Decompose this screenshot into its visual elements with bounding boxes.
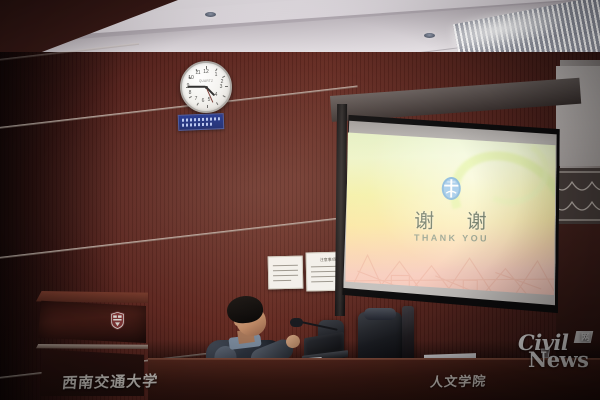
downlight-icon [205,12,216,17]
downlight-icon [424,33,435,38]
photograph-lecture-hall: 12 1 2 3 4 5 6 7 8 9 10 11 QUARTZ 注意事项 [0,0,600,400]
wall-vignette [0,52,600,400]
